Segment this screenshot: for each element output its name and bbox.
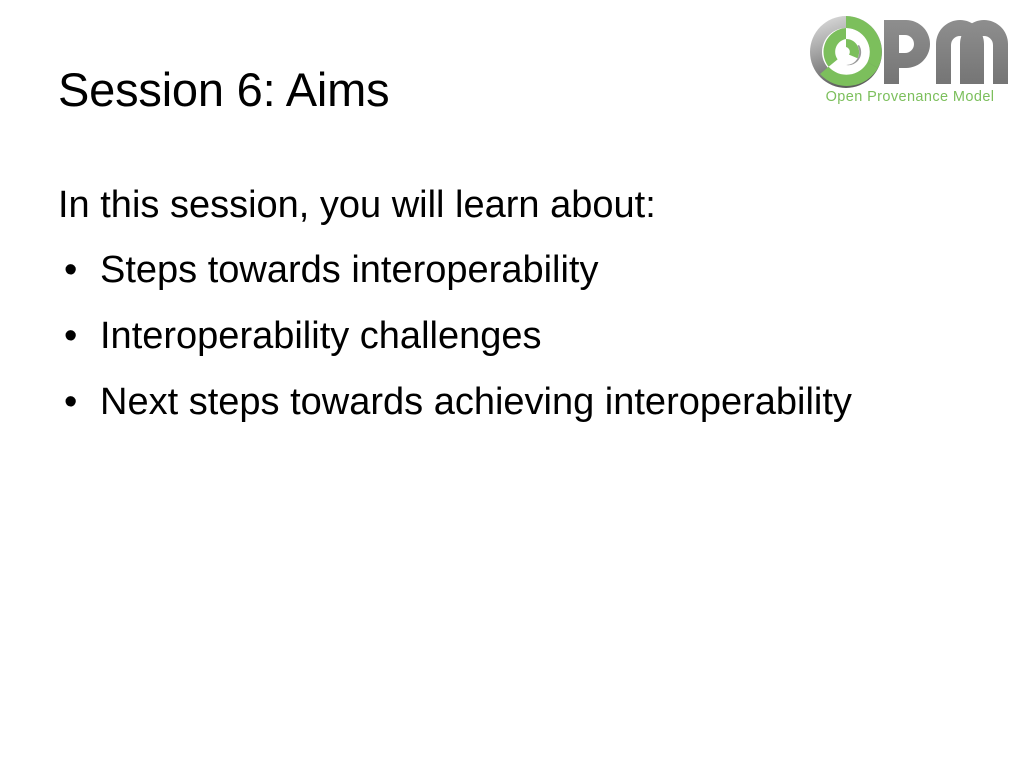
list-item-label: Interoperability challenges — [100, 315, 542, 357]
bullet-marker-icon: • — [64, 383, 77, 421]
list-item: • Interoperability challenges — [58, 317, 988, 355]
list-item: • Next steps towards achieving interoper… — [58, 383, 988, 421]
list-item-label: Next steps towards achieving interoperab… — [100, 381, 852, 423]
slide: Session 6: Aims — [0, 0, 1024, 768]
bullet-marker-icon: • — [64, 251, 77, 289]
opm-spiral-icon — [810, 16, 882, 88]
page-title: Session 6: Aims — [58, 64, 758, 117]
bullet-marker-icon: • — [64, 317, 77, 355]
slide-body: In this session, you will learn about: •… — [58, 186, 988, 421]
bullet-list: • Steps towards interoperability • Inter… — [58, 251, 988, 421]
opm-wordmark — [884, 20, 1008, 84]
list-item-label: Steps towards interoperability — [100, 249, 598, 291]
opm-logo: Open Provenance Model — [806, 12, 1014, 106]
opm-tagline: Open Provenance Model — [826, 89, 995, 105]
intro-line: In this session, you will learn about: — [58, 186, 988, 224]
list-item: • Steps towards interoperability — [58, 251, 988, 289]
